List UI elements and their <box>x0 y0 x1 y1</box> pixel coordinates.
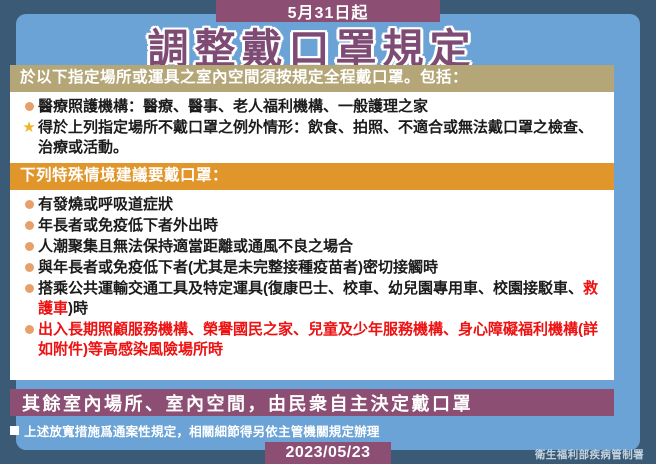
dot-bullet-icon <box>20 320 38 340</box>
list-item-text: 人潮聚集且無法保持適當距離或通風不良之場合 <box>38 237 606 257</box>
bullet-list-recommended: 有發燒或呼吸道症狀 年長者或免疫低下者外出時 人潮聚集且無法保持適當距離或通風不… <box>10 190 614 365</box>
list-item: 有發燒或呼吸道症狀 <box>20 195 606 215</box>
dot-bullet-icon <box>20 279 38 299</box>
summary-banner: 其餘室內場所、室內空間，由民衆自主決定戴口罩 <box>10 389 614 416</box>
list-item: 年長者或免疫低下者外出時 <box>20 216 606 236</box>
content-panel: 於以下指定場所或運具之室內空間須按規定全程戴口罩。包括： 醫療照護機構：醫療、醫… <box>10 65 614 380</box>
bullet-list-mandatory: 醫療照護機構：醫療、醫事、老人福利機構、一般護理之家 ★ 得於上列指定場所不戴口… <box>10 92 614 163</box>
square-bullet-icon <box>10 426 19 435</box>
list-item: 出入長期照顧服務機構、榮譽國民之家、兒童及少年服務機構、身心障礙福利機構(詳如附… <box>20 320 606 360</box>
list-item: 醫療照護機構：醫療、醫事、老人福利機構、一般護理之家 <box>20 97 606 117</box>
list-item-text-segment: )時 <box>68 300 88 317</box>
section-header-recommended: 下列特殊情境建議要戴口罩： <box>10 163 614 190</box>
dot-bullet-icon <box>20 216 38 236</box>
footnote: 上述放寬措施爲通案性規定，相關細節得另依主管機關規定辦理 <box>10 421 614 440</box>
agency-credit: 衛生福利部疾病管制署 <box>535 447 644 462</box>
list-item-text: 有發燒或呼吸道症狀 <box>38 195 606 215</box>
list-item-text-highlight: 出入長期照顧服務機構、榮譽國民之家、兒童及少年服務機構、身心障礙福利機構(詳如附… <box>38 320 606 360</box>
publish-date-chip: 2023/05/23 <box>265 442 391 464</box>
dot-bullet-icon <box>20 195 38 215</box>
dot-bullet-icon <box>20 237 38 257</box>
dot-bullet-icon <box>20 258 38 278</box>
list-item: 人潮聚集且無法保持適當距離或通風不良之場合 <box>20 237 606 257</box>
effective-date-banner: 5月31日起 <box>216 0 440 22</box>
list-item: ★ 得於上列指定場所不戴口罩之例外情形：飲食、拍照、不適合或無法戴口罩之檢查、治… <box>20 118 606 158</box>
poster-root: 5月31日起 調整戴口罩規定 於以下指定場所或運具之室內空間須按規定全程戴口罩。… <box>0 0 656 464</box>
section-header-mandatory: 於以下指定場所或運具之室內空間須按規定全程戴口罩。包括： <box>10 65 614 92</box>
list-item-text: 與年長者或免疫低下者(尤其是未完整接種疫苗者)密切接觸時 <box>38 258 606 278</box>
list-item-text: 醫療照護機構：醫療、醫事、老人福利機構、一般護理之家 <box>38 97 606 117</box>
list-item-text-segment: 搭乘公共運輸交通工具及特定運具(復康巴士、校車、幼兒園專用車、校園接駁車、 <box>38 280 583 297</box>
list-item-text: 得於上列指定場所不戴口罩之例外情形：飲食、拍照、不適合或無法戴口罩之檢查、治療或… <box>38 118 606 158</box>
list-item: 與年長者或免疫低下者(尤其是未完整接種疫苗者)密切接觸時 <box>20 258 606 278</box>
list-item-text-mixed: 搭乘公共運輸交通工具及特定運具(復康巴士、校車、幼兒園專用車、校園接駁車、救護車… <box>38 279 606 319</box>
footnote-text: 上述放寬措施爲通案性規定，相關細節得另依主管機關規定辦理 <box>24 421 380 440</box>
dot-bullet-icon <box>20 97 38 117</box>
star-bullet-icon: ★ <box>20 118 38 138</box>
list-item: 搭乘公共運輸交通工具及特定運具(復康巴士、校車、幼兒園專用車、校園接駁車、救護車… <box>20 279 606 319</box>
list-item-text: 年長者或免疫低下者外出時 <box>38 216 606 236</box>
